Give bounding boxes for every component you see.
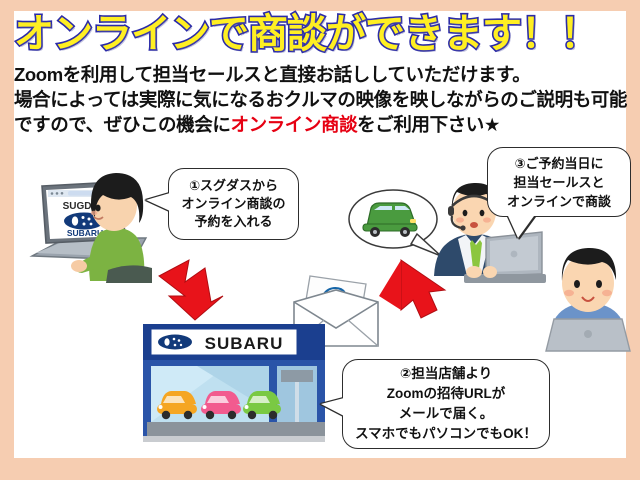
step-2-line-2: Zoomの招待URLが xyxy=(343,384,549,404)
intro-line-2: 場合によっては実際に気になるおクルマの映像を映しながらのご説明も可能 xyxy=(14,87,630,112)
subaru-dealership-illustration: SUBARU xyxy=(137,318,337,460)
step-3-line-3: オンラインで商談 xyxy=(488,192,630,211)
bubble-tail xyxy=(321,398,344,416)
customer-at-laptop-illustration xyxy=(540,245,636,355)
step-1-line-1: ①スグダスから xyxy=(169,177,298,195)
step-3-speech-bubble: ③ご予約当日に 担当セールスと オンラインで商談 xyxy=(487,147,631,217)
step-2-line-3: メールで届く。 xyxy=(343,404,549,424)
intro-line-3-prefix: ですので、ぜひこの機会に xyxy=(14,114,230,135)
step-1-line-2: オンライン商談の xyxy=(169,195,298,213)
step-1-speech-bubble: ①スグダスから オンライン商談の 予約を入れる xyxy=(168,168,299,240)
bubble-tail xyxy=(146,193,170,211)
page-title: オンラインで商談ができます！！ xyxy=(14,14,614,54)
person-at-laptop-illustration: SUGDAS SUBARU xyxy=(22,160,162,285)
step-2-line-1: ②担当店舗より xyxy=(343,364,549,384)
intro-line-3: ですので、ぜひこの機会にオンライン商談をご利用下さい★ xyxy=(14,112,630,137)
intro-line-3-highlight: オンライン商談 xyxy=(230,114,357,135)
bubble-tail xyxy=(508,216,534,238)
step-3-line-2: 担当セールスと xyxy=(488,173,630,192)
step-1-line-3: 予約を入れる xyxy=(169,213,298,231)
dealership-sign-text: SUBARU xyxy=(205,334,284,353)
red-arrow-down-icon xyxy=(155,252,235,324)
intro-paragraph: Zoomを利用して担当セールスと直接お話ししていただけます。 場合によっては実際… xyxy=(14,62,630,137)
step-2-line-4: スマホでもパソコンでもOK！ xyxy=(343,424,549,444)
poster-canvas: オンラインで商談ができます！！ Zoomを利用して担当セールスと直接お話ししてい… xyxy=(0,0,640,480)
intro-line-1: Zoomを利用して担当セールスと直接お話ししていただけます。 xyxy=(14,62,630,87)
step-3-line-1: ③ご予約当日に xyxy=(488,154,630,173)
intro-line-3-suffix: をご利用下さい★ xyxy=(357,114,500,135)
step-2-speech-bubble: ②担当店舗より Zoomの招待URLが メールで届く。 スマホでもパソコンでもO… xyxy=(342,359,550,449)
